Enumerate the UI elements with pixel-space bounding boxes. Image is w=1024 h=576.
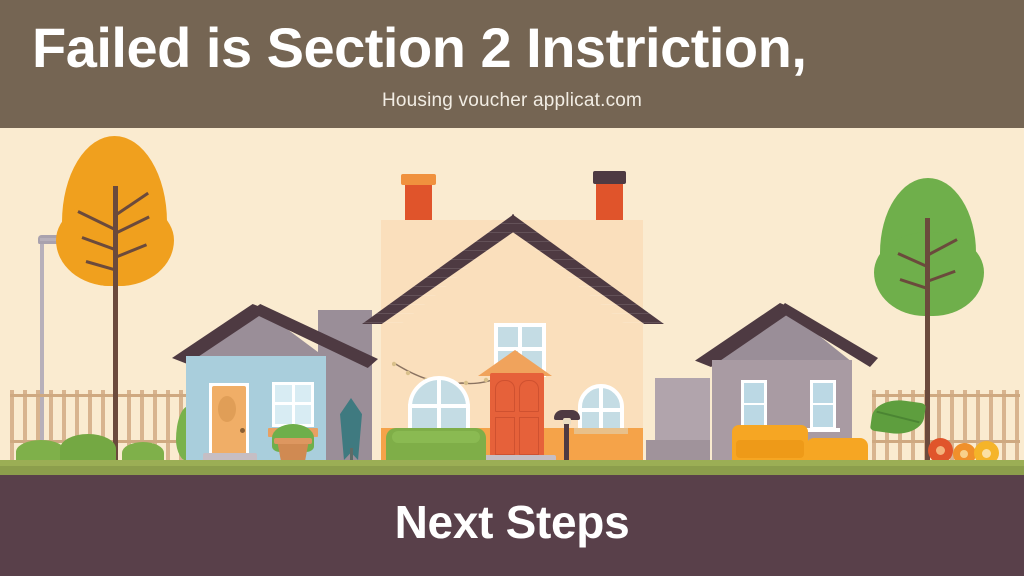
main-house-door-panel-bl <box>495 417 515 455</box>
right-house-window-right <box>810 380 836 430</box>
fence-left-rail-top <box>10 394 188 397</box>
page-subtitle: Housing voucher applicat.com <box>0 90 1024 112</box>
left-house-door-handle <box>240 428 245 433</box>
flower-yellow-center <box>982 449 991 458</box>
main-house-door-panel-br <box>519 417 539 455</box>
right-house-sofa-seat <box>736 440 804 458</box>
main-house-arched-window-right-sill <box>574 428 628 434</box>
main-house-chimney-right-cap <box>593 171 626 184</box>
right-house-window-right-sill <box>806 428 840 432</box>
main-house-arched-window-right-mullion-h <box>578 408 624 412</box>
left-house-window-mullion-h <box>272 402 314 405</box>
main-house-chimney-left-cap <box>401 174 436 185</box>
main-house-hedge-highlight <box>392 431 480 443</box>
main-house-chimney-right <box>596 178 623 226</box>
fence-right-rail-top <box>872 394 1020 397</box>
footer-banner: Next Steps <box>0 475 1024 576</box>
left-house-door-panel <box>218 396 236 422</box>
main-house-upper-window-mullion-h <box>494 347 546 351</box>
main-house-door-panel-tr <box>519 380 539 412</box>
illustration-scene <box>0 128 1024 476</box>
next-steps-label: Next Steps <box>0 495 1024 549</box>
right-house-window-left-mullion-h <box>741 403 767 405</box>
right-house-window-right-mullion-h <box>810 403 836 405</box>
page-title: Failed is Section 2 Instriction, <box>32 20 992 76</box>
right-house-window-left <box>741 380 767 430</box>
main-house-arched-window-left-mullion-h <box>408 404 470 408</box>
left-house-planter-rim <box>274 438 312 444</box>
flower-red-center <box>936 446 945 455</box>
flower-orange-center <box>960 450 968 458</box>
main-house-door-panel-tl <box>495 380 515 412</box>
slide-root: Failed is Section 2 Instriction, Housing… <box>0 0 1024 576</box>
header-banner: Failed is Section 2 Instriction, Housing… <box>0 0 1024 128</box>
